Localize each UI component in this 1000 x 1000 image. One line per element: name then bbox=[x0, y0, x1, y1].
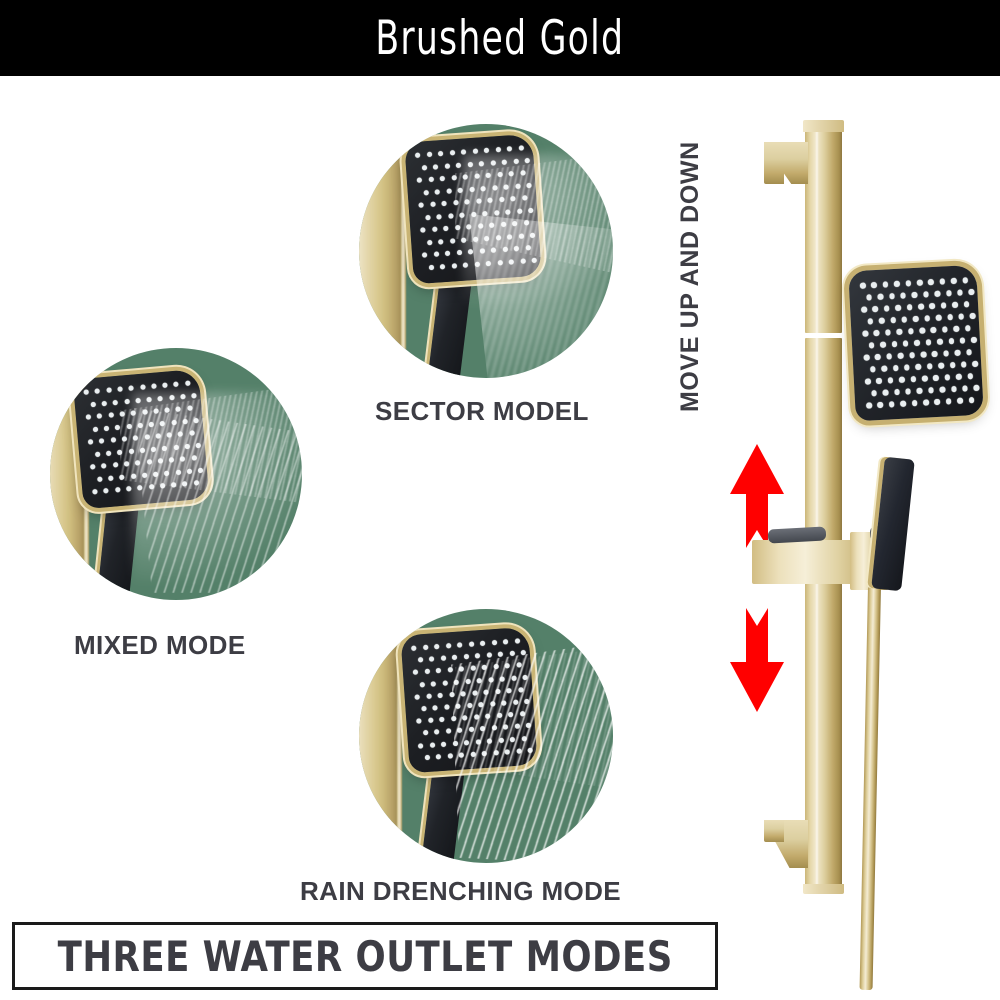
nozzle-dot bbox=[88, 439, 93, 444]
nozzle-dot bbox=[192, 392, 197, 397]
nozzle-dot bbox=[176, 469, 181, 474]
nozzle-dot bbox=[881, 366, 887, 372]
nozzle-dot bbox=[482, 210, 487, 215]
nozzle-dot bbox=[912, 292, 918, 298]
footer-title: THREE WATER OUTLET MODES bbox=[57, 932, 672, 981]
nozzle-dot bbox=[119, 411, 124, 416]
top-bracket-cap bbox=[803, 120, 844, 132]
nozzle-dot bbox=[513, 158, 518, 163]
nozzle-dot bbox=[509, 259, 514, 264]
nozzle-dot bbox=[486, 260, 491, 265]
nozzle-dot bbox=[146, 459, 151, 464]
nozzle-dot bbox=[514, 638, 519, 643]
nozzle-dot bbox=[513, 700, 518, 705]
nozzle-dot bbox=[124, 398, 129, 403]
nozzle-dot bbox=[512, 221, 517, 226]
nozzle-dot bbox=[923, 399, 929, 405]
nozzle-dot bbox=[468, 642, 473, 647]
nozzle-dot bbox=[173, 444, 178, 449]
nozzle-dot bbox=[896, 329, 902, 335]
nozzle-dot bbox=[115, 424, 120, 429]
nozzle-dot bbox=[502, 159, 507, 164]
nozzle-dot bbox=[423, 730, 428, 735]
nozzle-dot bbox=[909, 352, 915, 358]
nozzle-dot bbox=[185, 381, 190, 386]
nozzle-dot bbox=[890, 317, 896, 323]
nozzle-dot bbox=[129, 385, 134, 390]
nozzle-dot bbox=[938, 363, 944, 369]
nozzle-dot bbox=[113, 462, 118, 467]
nozzle-dot bbox=[463, 174, 468, 179]
nozzle-dot bbox=[963, 301, 969, 307]
nozzle-dot bbox=[958, 313, 964, 319]
nozzle-dot bbox=[182, 481, 187, 486]
caption-rain: RAIN DRENCHING MODE bbox=[300, 876, 621, 907]
mixed-photo-inner bbox=[50, 348, 302, 600]
nozzle-dot bbox=[521, 650, 526, 655]
nozzle-dot bbox=[436, 754, 441, 759]
shower-hose bbox=[860, 586, 881, 990]
nozzle-dot bbox=[124, 461, 129, 466]
nozzle-dot bbox=[883, 281, 889, 287]
nozzle-dot bbox=[418, 202, 423, 207]
nozzle-dot bbox=[142, 409, 147, 414]
nozzle-dot bbox=[441, 656, 446, 661]
nozzle-dot bbox=[419, 682, 424, 687]
nozzle-dot bbox=[459, 212, 464, 217]
nozzle-dot bbox=[144, 434, 149, 439]
nozzle-dot bbox=[889, 401, 895, 407]
nozzle-dot bbox=[506, 688, 511, 693]
nozzle-dot bbox=[946, 398, 952, 404]
nozzle-dot bbox=[164, 407, 169, 412]
nozzle-dot bbox=[95, 388, 100, 393]
nozzle-dot bbox=[426, 152, 431, 157]
nozzle-dot bbox=[421, 706, 426, 711]
nozzle-dot bbox=[155, 433, 160, 438]
nozzle-dot bbox=[471, 211, 476, 216]
nozzle-dot bbox=[426, 693, 431, 698]
nozzle-dot bbox=[951, 278, 957, 284]
nozzle-dot bbox=[898, 353, 904, 359]
nozzle-dot bbox=[485, 714, 490, 719]
nozzle-dot bbox=[503, 639, 508, 644]
nozzle-dot-grid bbox=[400, 627, 537, 774]
nozzle-dot-grid bbox=[404, 134, 542, 285]
nozzle-dot bbox=[479, 161, 484, 166]
nozzle-dot bbox=[482, 665, 487, 670]
nozzle-dot bbox=[503, 725, 508, 730]
nozzle-dot bbox=[927, 363, 933, 369]
nozzle-dot bbox=[511, 675, 516, 680]
nozzle-dot bbox=[496, 235, 501, 240]
nozzle-dot bbox=[135, 397, 140, 402]
nozzle-dot bbox=[131, 410, 136, 415]
nozzle-dot bbox=[464, 654, 469, 659]
bottom-bracket-cap bbox=[803, 884, 844, 894]
nozzle-dot bbox=[939, 387, 945, 393]
nozzle-dot bbox=[520, 170, 525, 175]
nozzle-dot bbox=[158, 458, 163, 463]
nozzle-dot bbox=[428, 718, 433, 723]
nozzle-dot bbox=[456, 162, 461, 167]
nozzle-dot bbox=[176, 406, 181, 411]
nozzle-dot bbox=[446, 188, 451, 193]
nozzle-dot bbox=[106, 387, 111, 392]
nozzle-dot bbox=[507, 234, 512, 239]
nozzle-dot bbox=[461, 237, 466, 242]
nozzle-dot bbox=[515, 724, 520, 729]
nozzle-dot bbox=[450, 238, 455, 243]
nozzle-dot bbox=[478, 223, 483, 228]
nozzle-dot bbox=[936, 315, 942, 321]
nozzle-dot bbox=[469, 186, 474, 191]
nozzle-dot bbox=[960, 337, 966, 343]
nozzle-dot bbox=[137, 485, 142, 490]
shower-faceplate bbox=[404, 134, 542, 285]
nozzle-dot bbox=[411, 646, 416, 651]
nozzle-dot bbox=[501, 700, 506, 705]
nozzle-dot bbox=[484, 148, 489, 153]
nozzle-dot bbox=[158, 395, 163, 400]
nozzle-dot bbox=[915, 364, 921, 370]
nozzle-dot bbox=[899, 377, 905, 383]
nozzle-dot bbox=[115, 487, 120, 492]
nozzle-dot-grid bbox=[848, 265, 984, 421]
nozzle-dot bbox=[437, 214, 442, 219]
nozzle-dot bbox=[469, 727, 474, 732]
nozzle-dot bbox=[955, 350, 961, 356]
nozzle-dot bbox=[164, 470, 169, 475]
handheld-handle bbox=[871, 457, 915, 591]
nozzle-dot bbox=[444, 704, 449, 709]
nozzle-dot bbox=[440, 176, 445, 181]
nozzle-dot bbox=[432, 227, 437, 232]
nozzle-dot bbox=[475, 653, 480, 658]
nozzle-dot bbox=[473, 236, 478, 241]
mode-photo-rain bbox=[359, 609, 613, 863]
nozzle-dot bbox=[459, 667, 464, 672]
nozzle-dot bbox=[907, 304, 913, 310]
nozzle-dot bbox=[478, 702, 483, 707]
nozzle-dot bbox=[507, 146, 512, 151]
nozzle-dot bbox=[455, 704, 460, 709]
nozzle-dot bbox=[971, 337, 977, 343]
nozzle-dot bbox=[436, 668, 441, 673]
nozzle-dot bbox=[486, 173, 491, 178]
nozzle-dot bbox=[415, 153, 420, 158]
nozzle-dot bbox=[420, 227, 425, 232]
nozzle-dot bbox=[413, 670, 418, 675]
nozzle-dot bbox=[877, 294, 883, 300]
nozzle-dot bbox=[490, 701, 495, 706]
nozzle-dot bbox=[526, 723, 531, 728]
nozzle-dot bbox=[465, 678, 470, 683]
nozzle-dot bbox=[196, 442, 201, 447]
nozzle-dot bbox=[900, 401, 906, 407]
nozzle-dot bbox=[433, 164, 438, 169]
nozzle-dot bbox=[505, 663, 510, 668]
shower-handle bbox=[426, 274, 472, 378]
nozzle-dot bbox=[947, 314, 953, 320]
nozzle-dot bbox=[97, 413, 102, 418]
nozzle-dot bbox=[137, 422, 142, 427]
nozzle-dot bbox=[962, 277, 968, 283]
nozzle-dot bbox=[472, 690, 477, 695]
nozzle-dot bbox=[508, 171, 513, 176]
nozzle-dot bbox=[492, 726, 497, 731]
nozzle-dot bbox=[470, 751, 475, 756]
nozzle-dot bbox=[967, 373, 973, 379]
nozzle-dot bbox=[151, 446, 156, 451]
nozzle-dot bbox=[490, 160, 495, 165]
nozzle-dot bbox=[418, 743, 423, 748]
nozzle-dot bbox=[448, 213, 453, 218]
shower-rail-assembly bbox=[640, 90, 1000, 990]
nozzle-dot bbox=[866, 402, 872, 408]
nozzle-dot bbox=[912, 400, 918, 406]
nozzle-dot bbox=[443, 226, 448, 231]
nozzle-dot bbox=[110, 437, 115, 442]
nozzle-dot bbox=[86, 414, 91, 419]
nozzle-dot bbox=[492, 185, 497, 190]
nozzle-dot bbox=[515, 183, 520, 188]
nozzle-dot bbox=[901, 316, 907, 322]
nozzle-dot bbox=[422, 165, 427, 170]
nozzle-dot bbox=[895, 305, 901, 311]
nozzle-dot bbox=[527, 182, 532, 187]
nozzle-dot bbox=[459, 752, 464, 757]
nozzle-dot bbox=[126, 486, 131, 491]
nozzle-dot bbox=[160, 483, 165, 488]
nozzle-dot bbox=[131, 473, 136, 478]
top-wall-mount-foot bbox=[764, 142, 784, 184]
nozzle-dot bbox=[447, 753, 452, 758]
nozzle-dot bbox=[477, 678, 482, 683]
nozzle-dot bbox=[505, 749, 510, 754]
nozzle-dot bbox=[882, 390, 888, 396]
nozzle-dot bbox=[430, 202, 435, 207]
nozzle-dot bbox=[523, 674, 528, 679]
nozzle-dot bbox=[99, 438, 104, 443]
nozzle-dot bbox=[434, 730, 439, 735]
nozzle-dot bbox=[948, 338, 954, 344]
nozzle-dot bbox=[90, 464, 95, 469]
nozzle-dot bbox=[917, 280, 923, 286]
nozzle-dot bbox=[140, 447, 145, 452]
nozzle-dot bbox=[918, 304, 924, 310]
nozzle-dot bbox=[498, 652, 503, 657]
footer-banner: THREE WATER OUTLET MODES bbox=[12, 922, 718, 990]
nozzle-dot bbox=[491, 640, 496, 645]
nozzle-dot bbox=[861, 307, 867, 313]
nozzle-dot bbox=[866, 294, 872, 300]
nozzle-dot bbox=[463, 262, 468, 267]
nozzle-dot bbox=[451, 716, 456, 721]
nozzle-dot bbox=[458, 187, 463, 192]
nozzle-dot bbox=[455, 225, 460, 230]
nozzle-dot bbox=[479, 248, 484, 253]
nozzle-dot bbox=[491, 248, 496, 253]
nozzle-dot bbox=[108, 412, 113, 417]
nozzle-dot bbox=[914, 340, 920, 346]
nozzle-dot bbox=[972, 361, 978, 367]
nozzle-dot bbox=[178, 431, 183, 436]
nozzle-dot bbox=[502, 247, 507, 252]
nozzle-dot bbox=[928, 279, 934, 285]
nozzle-dot bbox=[530, 232, 535, 237]
nozzle-dot bbox=[424, 669, 429, 674]
nozzle-dot bbox=[867, 318, 873, 324]
nozzle-dot bbox=[171, 419, 176, 424]
shower-faceplate bbox=[73, 369, 210, 509]
nozzle-dot bbox=[904, 364, 910, 370]
nozzle-dot bbox=[484, 235, 489, 240]
nozzle-dot bbox=[504, 184, 509, 189]
nozzle-dot bbox=[438, 151, 443, 156]
shower-head bbox=[400, 627, 537, 774]
nozzle-dot bbox=[438, 239, 443, 244]
nozzle-dot bbox=[494, 210, 499, 215]
nozzle-dot bbox=[451, 263, 456, 268]
nozzle-dot bbox=[444, 163, 449, 168]
nozzle-dot bbox=[518, 145, 523, 150]
nozzle-dot bbox=[189, 430, 194, 435]
nozzle-dot bbox=[933, 375, 939, 381]
nozzle-dot bbox=[140, 384, 145, 389]
nozzle-dot bbox=[135, 460, 140, 465]
nozzle-dot bbox=[894, 281, 900, 287]
slide-bar-upper bbox=[805, 128, 842, 333]
nozzle-dot bbox=[962, 385, 968, 391]
nozzle-dot bbox=[870, 366, 876, 372]
nozzle-dot bbox=[423, 645, 428, 650]
nozzle-dot bbox=[146, 396, 151, 401]
nozzle-dot bbox=[451, 175, 456, 180]
nozzle-dot bbox=[532, 257, 537, 262]
nozzle-dot bbox=[495, 147, 500, 152]
bottom-wall-mount-foot bbox=[764, 820, 784, 842]
nozzle-dot bbox=[919, 328, 925, 334]
nozzle-dot bbox=[522, 195, 527, 200]
rain-photo-inner bbox=[359, 609, 613, 863]
nozzle-dot bbox=[872, 306, 878, 312]
nozzle-dot bbox=[900, 292, 906, 298]
handheld-shower-head bbox=[848, 265, 984, 421]
nozzle-dot bbox=[117, 449, 122, 454]
nozzle-dot bbox=[514, 246, 519, 251]
nozzle-dot bbox=[965, 325, 971, 331]
nozzle-dot bbox=[414, 694, 419, 699]
nozzle-dot bbox=[433, 252, 438, 257]
nozzle-dot bbox=[117, 386, 122, 391]
nozzle-dot bbox=[920, 351, 926, 357]
nozzle-dot bbox=[92, 426, 97, 431]
nozzle-dot bbox=[198, 467, 203, 472]
nozzle-dot bbox=[862, 331, 868, 337]
nozzle-dot bbox=[865, 378, 871, 384]
nozzle-dot bbox=[428, 177, 433, 182]
nozzle-dot bbox=[171, 482, 176, 487]
nozzle-dot bbox=[153, 471, 158, 476]
nozzle-dot bbox=[951, 386, 957, 392]
nozzle-dot bbox=[487, 653, 492, 658]
nozzle-dot bbox=[185, 443, 190, 448]
nozzle-dot bbox=[454, 679, 459, 684]
nozzle-dot bbox=[487, 738, 492, 743]
nozzle-dot bbox=[429, 264, 434, 269]
nozzle-dot bbox=[191, 455, 196, 460]
nozzle-dot bbox=[101, 463, 106, 468]
nozzle-dot bbox=[869, 342, 875, 348]
nozzle-dot bbox=[524, 699, 529, 704]
nozzle-dot bbox=[950, 362, 956, 368]
nozzle-dot bbox=[423, 190, 428, 195]
nozzle-dot bbox=[905, 388, 911, 394]
nozzle-dot bbox=[167, 432, 172, 437]
nozzle-dot bbox=[466, 224, 471, 229]
nozzle-dot bbox=[449, 150, 454, 155]
nozzle-dot bbox=[162, 382, 167, 387]
slide-bar-lower bbox=[805, 338, 842, 892]
nozzle-dot bbox=[966, 349, 972, 355]
caption-mixed: MIXED MODE bbox=[74, 630, 246, 661]
nozzle-dot bbox=[468, 249, 473, 254]
nozzle-dot bbox=[893, 365, 899, 371]
nozzle-dot bbox=[441, 741, 446, 746]
page-title: Brushed Gold bbox=[376, 11, 625, 66]
nozzle-dot bbox=[518, 687, 523, 692]
nozzle-dot bbox=[97, 476, 102, 481]
nozzle-dot bbox=[500, 222, 505, 227]
nozzle-dot bbox=[493, 750, 498, 755]
nozzle-dot bbox=[495, 689, 500, 694]
nozzle-dot bbox=[871, 390, 877, 396]
nozzle-dot bbox=[953, 326, 959, 332]
shower-handle bbox=[96, 493, 140, 600]
nozzle-dot bbox=[931, 327, 937, 333]
nozzle-dot bbox=[441, 201, 446, 206]
nozzle-dot bbox=[944, 374, 950, 380]
nozzle-dot bbox=[449, 692, 454, 697]
nozzle-dot bbox=[431, 681, 436, 686]
nozzle-dot bbox=[961, 361, 967, 367]
nozzle-dot bbox=[483, 689, 488, 694]
nozzle-dot bbox=[903, 340, 909, 346]
mode-photo-mixed bbox=[50, 348, 302, 600]
nozzle-dot bbox=[187, 468, 192, 473]
nozzle-dot bbox=[467, 161, 472, 166]
nozzle-dot bbox=[447, 667, 452, 672]
nozzle-dot bbox=[957, 398, 963, 404]
nozzle-dot bbox=[452, 655, 457, 660]
nozzle-dot bbox=[934, 399, 940, 405]
nozzle-dot bbox=[475, 739, 480, 744]
nozzle-dot bbox=[493, 664, 498, 669]
nozzle-dot bbox=[889, 293, 895, 299]
nozzle-dot bbox=[446, 643, 451, 648]
nozzle-dot bbox=[894, 389, 900, 395]
nozzle-dot bbox=[452, 741, 457, 746]
nozzle-dot bbox=[151, 383, 156, 388]
nozzle-dot bbox=[519, 711, 524, 716]
nozzle-dot bbox=[923, 291, 929, 297]
nozzle-dot bbox=[418, 657, 423, 662]
nozzle-dot bbox=[970, 313, 976, 319]
nozzle-dot bbox=[922, 375, 928, 381]
nozzle-dot bbox=[498, 737, 503, 742]
nozzle-dot bbox=[891, 341, 897, 347]
